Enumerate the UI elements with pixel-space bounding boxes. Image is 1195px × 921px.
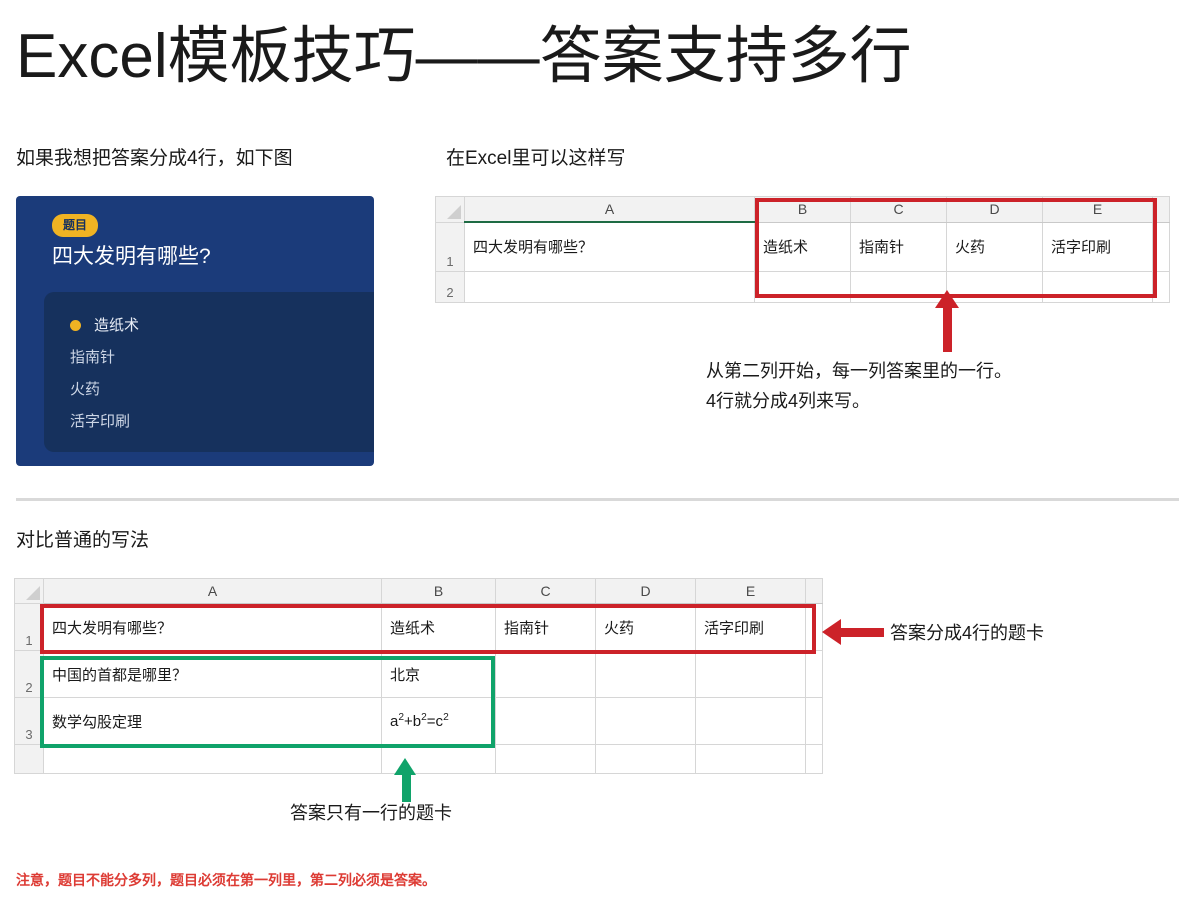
cell-c4[interactable] (496, 745, 596, 774)
col-header-b[interactable]: B (755, 197, 851, 223)
cell-b1[interactable]: 造纸术 (755, 222, 851, 271)
answer-panel: 造纸术 指南针 火药 活字印刷 (44, 292, 374, 452)
cell-e4[interactable] (696, 745, 806, 774)
row-header-2[interactable]: 2 (436, 271, 465, 302)
cell-b2[interactable]: 北京 (382, 651, 496, 698)
col-header-b[interactable]: B (382, 579, 496, 604)
annotation-right: 答案分成4行的题卡 (890, 618, 1044, 648)
row-header-3[interactable]: 3 (15, 698, 44, 745)
cell-c2[interactable] (496, 651, 596, 698)
col-header-a[interactable]: A (465, 197, 755, 223)
excel-table-top: A B C D E 1 四大发明有哪些？ 造纸术 指南针 火药 活字印刷 2 (435, 196, 1170, 303)
table-row: 3 数学勾股定理 a2+b2=c2 (15, 698, 823, 745)
cell-f2[interactable] (806, 651, 823, 698)
annotation-top-line2: 4行就分成4列来写。 (706, 386, 1012, 416)
table-header-row: A B C D E (436, 197, 1170, 223)
col-header-e[interactable]: E (1043, 197, 1153, 223)
cell-e1[interactable]: 活字印刷 (696, 604, 806, 651)
cell-e2[interactable] (696, 651, 806, 698)
slide-page: Excel模板技巧——答案支持多行 如果我想把答案分成4行，如下图 在Excel… (0, 0, 1195, 921)
cell-d4[interactable] (596, 745, 696, 774)
page-title: Excel模板技巧——答案支持多行 (16, 18, 912, 96)
col-header-f-partial[interactable] (1153, 197, 1170, 223)
footer-warning-note: 注意，题目不能分多列，题目必须在第一列里，第二列必须是答案。 (16, 870, 436, 890)
col-header-d[interactable]: D (947, 197, 1043, 223)
cell-f1[interactable] (806, 604, 823, 651)
cell-a2[interactable]: 中国的首都是哪里？ (44, 651, 382, 698)
section-heading: 对比普通的写法 (16, 528, 149, 554)
cell-a1[interactable]: 四大发明有哪些？ (465, 222, 755, 271)
col-header-e[interactable]: E (696, 579, 806, 604)
cell-c3[interactable] (496, 698, 596, 745)
red-left-arrow-icon (822, 618, 884, 648)
col-header-f-partial[interactable] (806, 579, 823, 604)
table-row: 2 中国的首都是哪里？ 北京 (15, 651, 823, 698)
cell-e1[interactable]: 活字印刷 (1043, 222, 1153, 271)
cell-a3[interactable]: 数学勾股定理 (44, 698, 382, 745)
cell-d1[interactable]: 火药 (947, 222, 1043, 271)
question-badge: 题目 (52, 214, 98, 237)
annotation-top: 从第二列开始，每一列答案里的一行。 4行就分成4列来写。 (706, 356, 1012, 416)
row-header-1[interactable]: 1 (436, 222, 465, 271)
table-row: 1 四大发明有哪些？ 造纸术 指南针 火药 活字印刷 (15, 604, 823, 651)
cell-c1[interactable]: 指南针 (851, 222, 947, 271)
red-up-arrow-icon (930, 290, 966, 352)
col-header-d[interactable]: D (596, 579, 696, 604)
col-header-a[interactable]: A (44, 579, 382, 604)
cell-b3[interactable]: a2+b2=c2 (382, 698, 496, 745)
col-header-c[interactable]: C (496, 579, 596, 604)
cell-d3[interactable] (596, 698, 696, 745)
row-header-1[interactable]: 1 (15, 604, 44, 651)
cell-e2[interactable] (1043, 271, 1153, 302)
cell-e3[interactable] (696, 698, 806, 745)
select-all-corner[interactable] (436, 197, 465, 223)
subhead-right: 在Excel里可以这样写 (446, 146, 625, 172)
table-row: 2 (436, 271, 1170, 302)
green-up-arrow-icon (390, 758, 424, 802)
cell-f2[interactable] (1153, 271, 1170, 302)
table-header-row: A B C D E (15, 579, 823, 604)
subhead-left: 如果我想把答案分成4行，如下图 (16, 146, 293, 172)
cell-f1[interactable] (1153, 222, 1170, 271)
cell-d2[interactable] (596, 651, 696, 698)
cell-a4[interactable] (44, 745, 382, 774)
cell-f3[interactable] (806, 698, 823, 745)
question-card: 题目 四大发明有哪些? 造纸术 指南针 火药 活字印刷 (16, 196, 374, 466)
card-question-text: 四大发明有哪些? (52, 242, 211, 272)
answer-line-4: 活字印刷 (70, 412, 130, 432)
row-header-2[interactable]: 2 (15, 651, 44, 698)
cell-b1[interactable]: 造纸术 (382, 604, 496, 651)
answer-line-3: 火药 (70, 380, 100, 400)
cell-a1[interactable]: 四大发明有哪些？ (44, 604, 382, 651)
answer-line-2: 指南针 (70, 348, 115, 368)
cell-c1[interactable]: 指南针 (496, 604, 596, 651)
excel-table-bottom: A B C D E 1 四大发明有哪些？ 造纸术 指南针 火药 活字印刷 2 中… (14, 578, 823, 774)
bullet-dot-icon (70, 320, 81, 331)
cell-a2[interactable] (465, 271, 755, 302)
annotation-green: 答案只有一行的题卡 (290, 798, 452, 828)
cell-b2[interactable] (755, 271, 851, 302)
cell-d1[interactable]: 火药 (596, 604, 696, 651)
col-header-c[interactable]: C (851, 197, 947, 223)
cell-f4[interactable] (806, 745, 823, 774)
answer-line-1: 造纸术 (94, 316, 139, 336)
section-divider (16, 498, 1179, 501)
table-row: 1 四大发明有哪些？ 造纸术 指南针 火药 活字印刷 (436, 222, 1170, 271)
annotation-top-line1: 从第二列开始，每一列答案里的一行。 (706, 356, 1012, 386)
row-header-4[interactable] (15, 745, 44, 774)
select-all-corner[interactable] (15, 579, 44, 604)
